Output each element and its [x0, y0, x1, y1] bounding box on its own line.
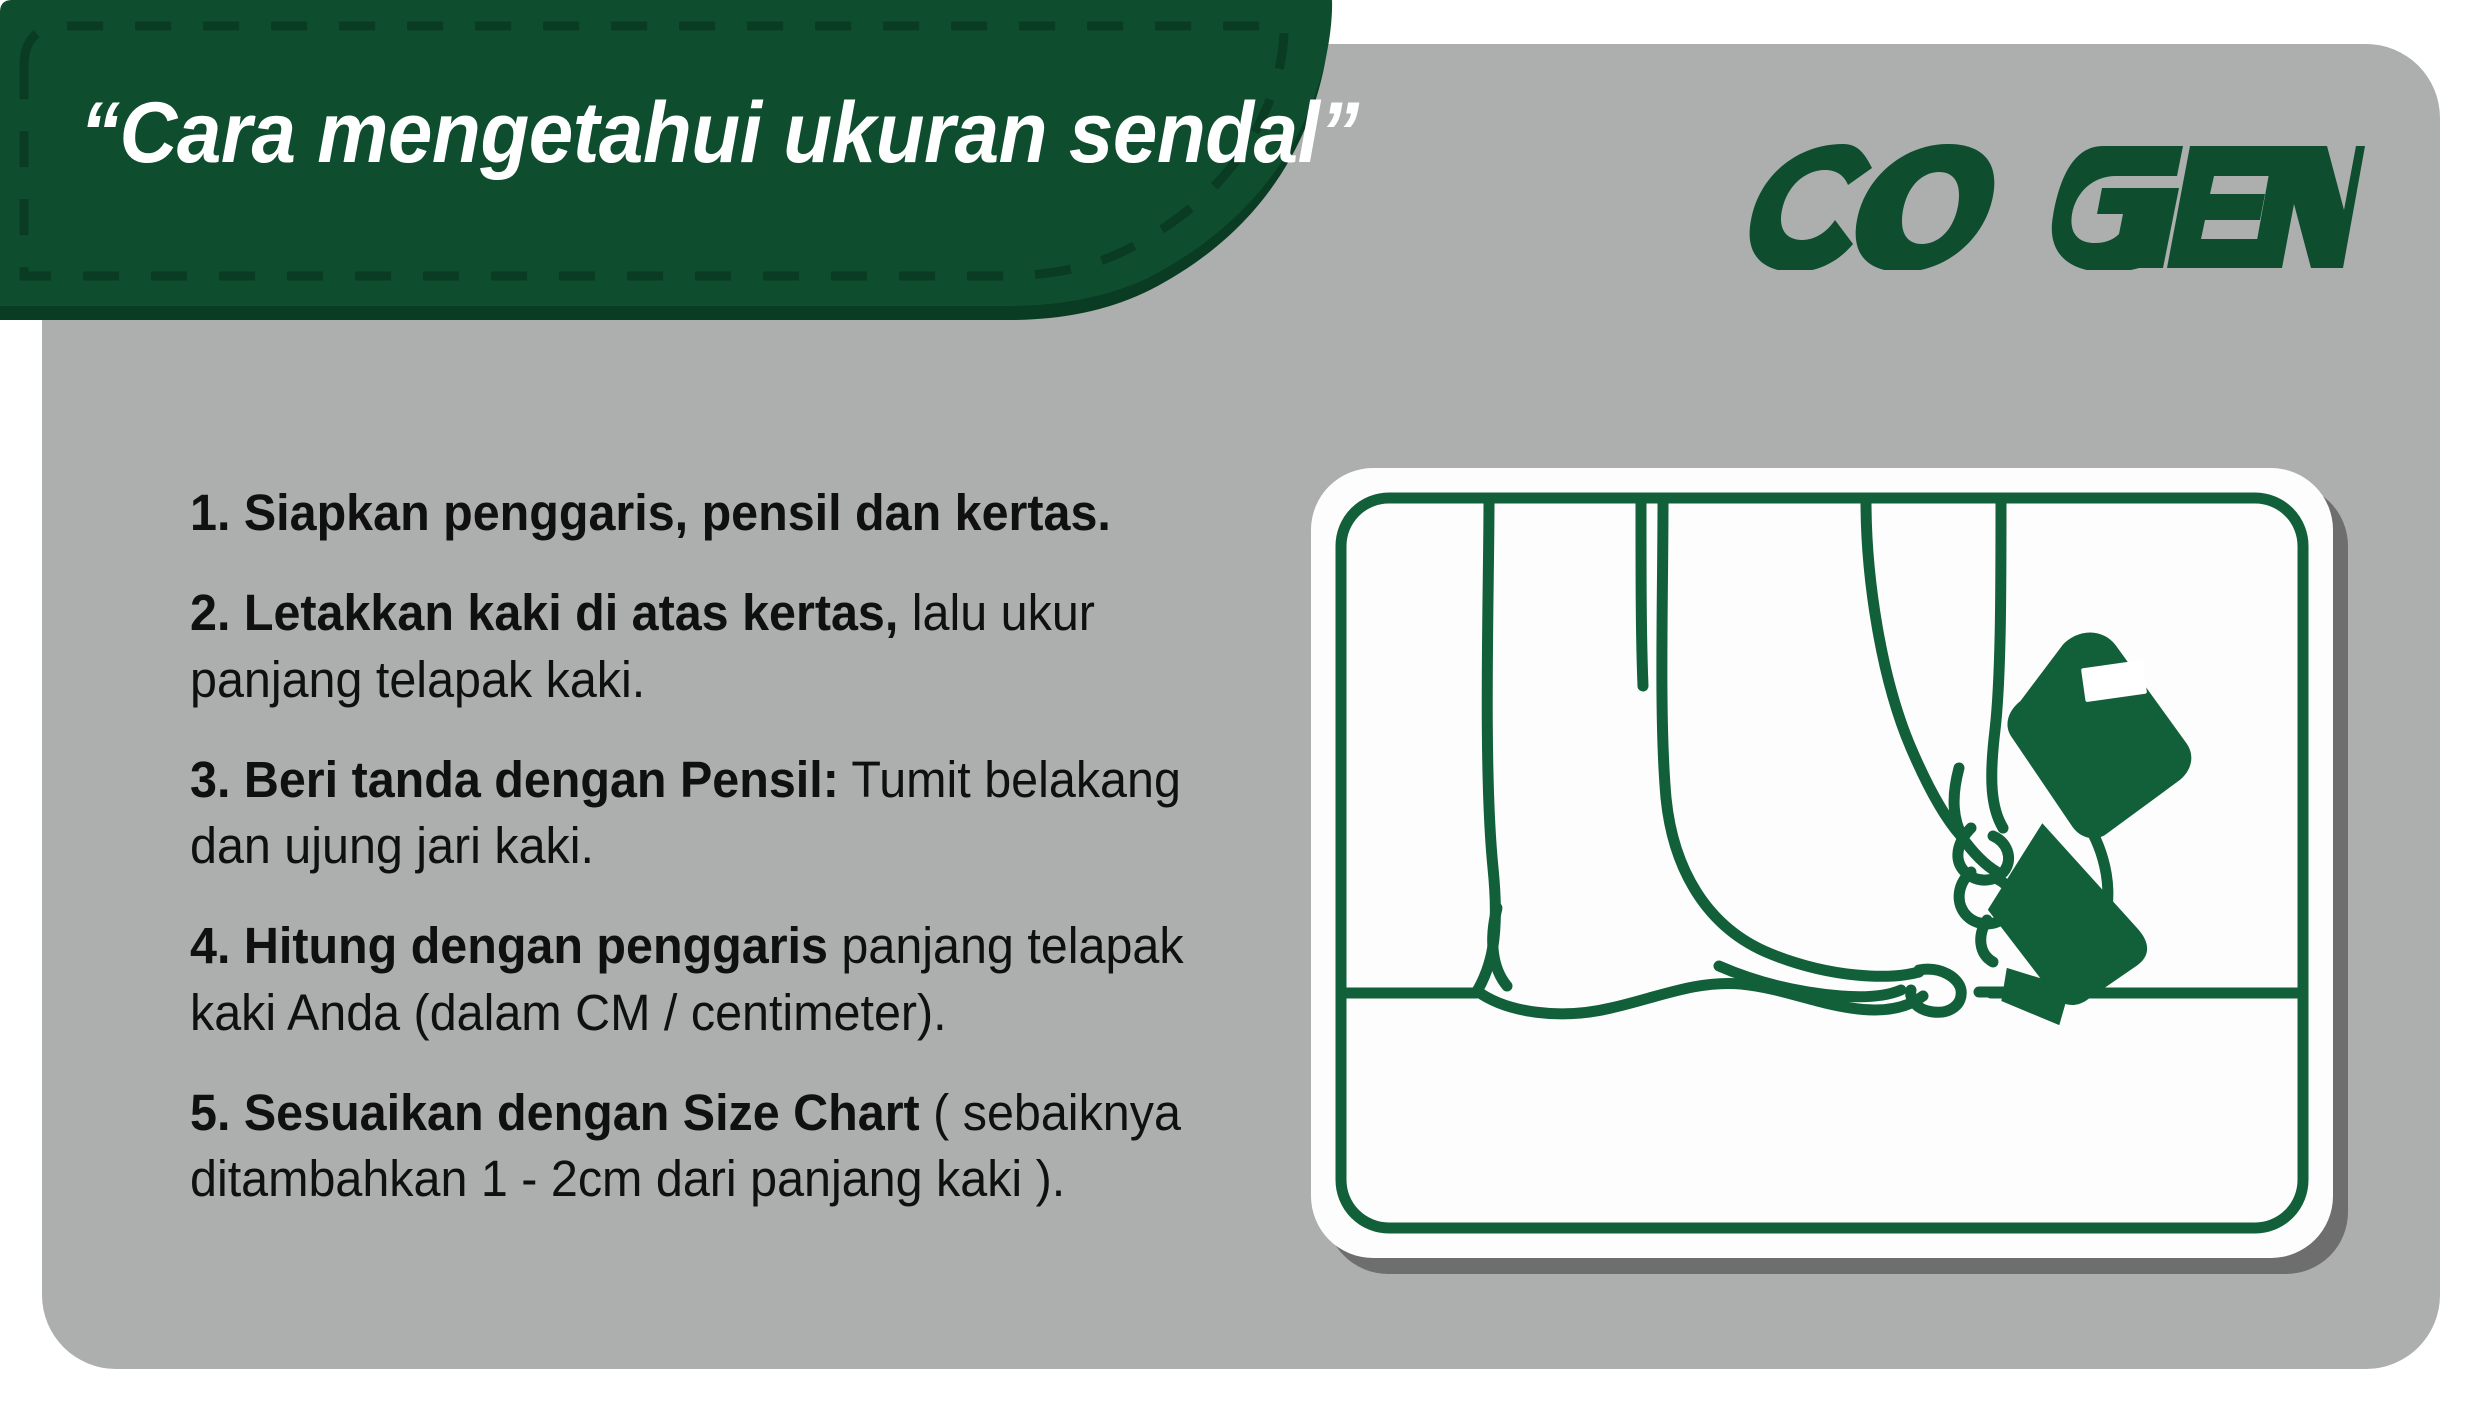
cogen-logo — [1735, 140, 2365, 270]
list-item: 3. Beri tanda dengan Pensil: Tumit belak… — [190, 747, 1254, 880]
foot-measure-icon — [1311, 468, 2333, 1258]
header-banner: “Cara mengetahui ukuran sendal” — [0, 0, 1720, 330]
illustration-card — [1311, 468, 2333, 1258]
list-item: 5. Sesuaikan dengan Size Chart ( sebaikn… — [190, 1080, 1254, 1213]
second-leg-back — [1866, 501, 1961, 836]
list-item: 4. Hitung dengan penggaris panjang telap… — [190, 913, 1254, 1046]
list-item: 1. Siapkan penggaris, pensil dan kertas. — [190, 480, 1254, 546]
step-label: 5. Sesuaikan dengan Size Chart — [190, 1084, 920, 1141]
cogen-logo-mark — [1735, 140, 2365, 270]
poster-canvas: “Cara mengetahui ukuran sendal” 1. Siapk… — [0, 0, 2481, 1415]
second-leg-crease — [1954, 768, 1963, 838]
instruction-list: 1. Siapkan penggaris, pensil dan kertas.… — [190, 480, 1310, 1213]
list-item: 2. Letakkan kaki di atas kertas, lalu uk… — [190, 580, 1254, 713]
step-label: 3. Beri tanda dengan Pensil: — [190, 751, 839, 808]
pencil-icon — [1977, 621, 2201, 1033]
step-label: 4. Hitung dengan penggaris — [190, 917, 828, 974]
second-leg-front — [1992, 501, 2003, 828]
step-label: 2. Letakkan kaki di atas kertas, — [190, 584, 898, 641]
heel-crease — [1493, 908, 1507, 986]
page-title: “Cara mengetahui ukuran sendal” — [80, 88, 1354, 178]
shin-crease — [1641, 503, 1643, 686]
foot-top-outline — [1662, 501, 1919, 976]
step-label: 1. Siapkan penggaris, pensil dan kertas. — [190, 484, 1111, 541]
